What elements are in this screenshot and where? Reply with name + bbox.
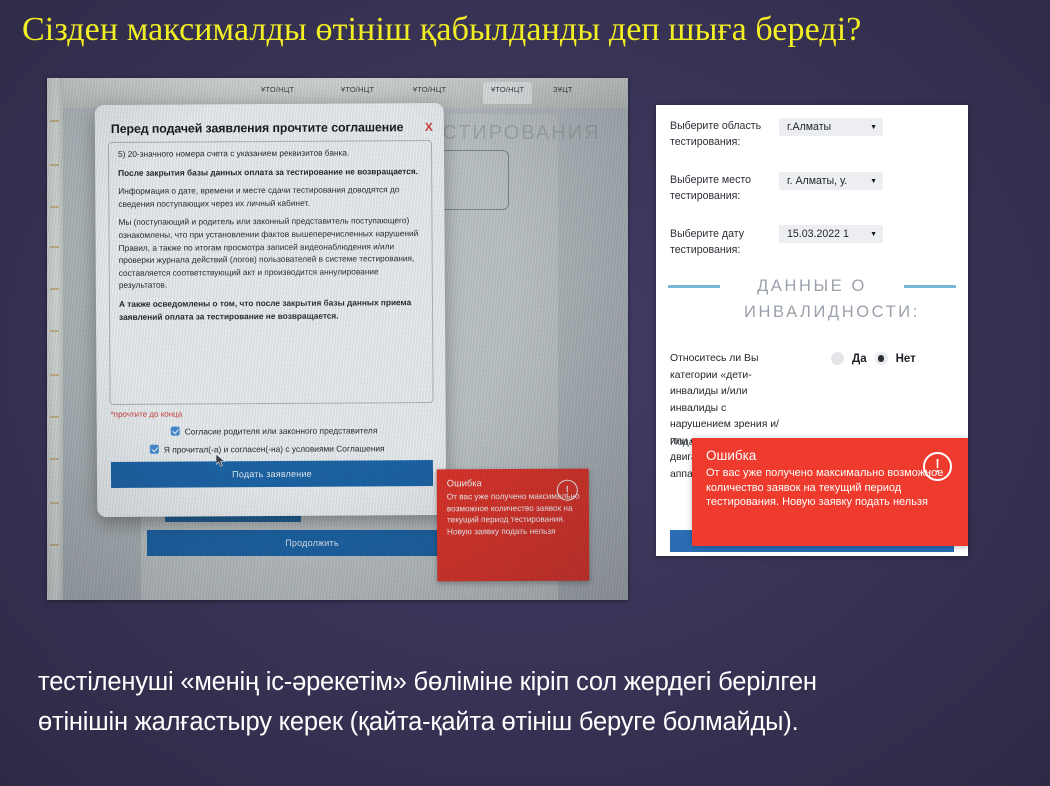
error-toast-message: От вас уже получено максимально возможно… (706, 466, 956, 510)
error-toast-title: Ошибка (706, 448, 956, 463)
browser-tab-1[interactable]: ҰТО/НЦТ (261, 82, 294, 104)
section-header-disability: ДАННЫЕ О ИНВАЛИДНОСТИ: (656, 273, 968, 325)
right-screenshot-card: Выберите область тестирования: г.Алматы … (656, 105, 968, 556)
select-region[interactable]: г.Алматы ▼ (779, 118, 883, 136)
checkbox-agreement-read-label: Я прочитал(-а) и согласен(-на) с условия… (164, 443, 385, 454)
chevron-down-icon[interactable]: ▼ (870, 124, 877, 131)
browser-tab-2[interactable]: ҰТО/НЦТ (341, 82, 374, 104)
agreement-paragraph: Информация о дате, времени и месте сдачи… (118, 183, 422, 210)
exclamation-icon: ! (557, 480, 578, 501)
checkbox-parent-consent-label: Согласие родителя или законного представ… (185, 425, 378, 436)
monitor-bezel (47, 78, 63, 600)
chevron-down-icon[interactable]: ▼ (870, 178, 877, 185)
slide-root: Сізден максималды өтініш қабылданды деп … (0, 0, 1050, 786)
modal-title: Перед подачей заявления прочтите соглаше… (111, 120, 431, 136)
radio-yes-label: Да (852, 353, 867, 365)
agreement-paragraph: Мы (поступающий и родитель или законный … (118, 214, 422, 291)
close-icon[interactable]: X (425, 120, 433, 134)
browser-tab-4[interactable]: ҰТО/НЦТ (483, 82, 532, 104)
agreement-paragraph: После закрытия базы данных оплата за тес… (118, 165, 422, 179)
slide-caption: тестіленуші «менің іс-әрекетім» бөліміне… (38, 662, 1050, 742)
submit-application-button[interactable]: Подать заявление (111, 460, 433, 488)
select-date[interactable]: 15.03.2022 1 ▼ (779, 225, 883, 243)
field-label-date: Выберите дату тестирования: (670, 227, 782, 258)
checkbox-agreement-read[interactable]: Я прочитал(-а) и согласен(-на) с условия… (150, 443, 385, 454)
mouse-cursor-icon (216, 454, 227, 467)
error-toast-left: Ошибка От вас уже получено максимально в… (437, 469, 590, 582)
checkbox-icon[interactable] (150, 445, 159, 454)
left-photo-screenshot: ҰТО/НЦТ ҰТО/НЦТ ҰТО/НЦТ ҰТО/НЦТ ЗҰЦТ ПАР… (47, 78, 628, 600)
caption-line-1: тестіленуші «менің іс-әрекетім» бөліміне… (38, 662, 1050, 702)
chevron-down-icon[interactable]: ▼ (870, 231, 877, 238)
agreement-paragraph: А также осведомлены о том, что после зак… (119, 296, 423, 323)
divider-right (904, 285, 956, 288)
radio-no-label: Нет (896, 353, 916, 365)
radio-yes[interactable] (831, 352, 844, 365)
checkbox-icon[interactable] (171, 427, 180, 436)
disability-radio-group[interactable]: Да Нет (831, 352, 916, 365)
divider-left (668, 285, 720, 288)
error-toast-right: Ошибка От вас уже получено максимально в… (692, 438, 968, 546)
radio-no[interactable] (875, 352, 888, 365)
select-place[interactable]: г. Алматы, у. ▼ (779, 172, 883, 190)
select-place-value: г. Алматы, у. (787, 175, 847, 187)
continue-button[interactable]: Продолжить (147, 530, 477, 556)
browser-tab-3[interactable]: ҰТО/НЦТ (413, 82, 446, 104)
select-date-value: 15.03.2022 1 (787, 228, 849, 240)
field-label-place: Выберите место тестирования: (670, 173, 770, 204)
agreement-modal: Перед подачей заявления прочтите соглаше… (95, 103, 447, 517)
exclamation-icon: ! (923, 452, 952, 481)
agreement-text-scroll[interactable]: 5) 20-значного номера счета с указанием … (108, 140, 434, 405)
browser-tab-5[interactable]: ЗҰЦТ (553, 82, 573, 104)
page-title: Сізден максималды өтініш қабылданды деп … (22, 8, 1050, 52)
read-to-end-note: *прочтите до конца (111, 410, 183, 419)
caption-line-2: өтінішін жалғастыру керек (қайта-қайта ө… (38, 702, 1050, 742)
section-title-line2: ИНВАЛИДНОСТИ: (656, 299, 968, 325)
agreement-paragraph: 5) 20-значного номера счета с указанием … (118, 146, 422, 160)
select-region-value: г.Алматы (787, 121, 831, 133)
field-label-region: Выберите область тестирования: (670, 119, 770, 150)
checkbox-parent-consent[interactable]: Согласие родителя или законного представ… (171, 425, 378, 436)
